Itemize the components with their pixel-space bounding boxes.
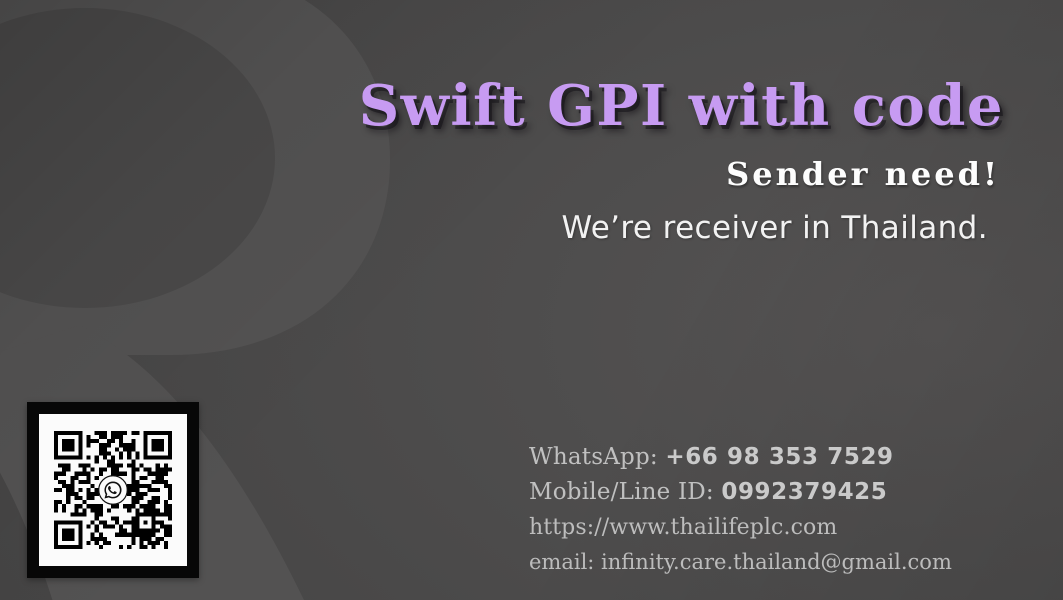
contact-row-whatsapp: WhatsApp: +66 98 353 7529 [529,440,999,475]
subtitle: Sender need! [0,157,1000,192]
line-id-number[interactable]: 0992379425 [721,479,887,505]
contact-block: WhatsApp: +66 98 353 7529 Mobile/Line ID… [529,440,999,580]
qr-code[interactable] [27,402,199,578]
business-card: Swift GPI with code Sender need! We’re r… [0,0,1063,600]
whatsapp-number[interactable]: +66 98 353 7529 [665,444,893,470]
whatsapp-icon [98,475,128,505]
tagline: We’re receiver in Thailand. [0,211,988,247]
website-link[interactable]: https://www.thailifeplc.com [529,510,999,545]
qr-code-surface [39,414,187,566]
contact-row-line-id: Mobile/Line ID: 0992379425 [529,475,999,510]
page-title: Swift GPI with code [0,78,1004,134]
email-address[interactable]: email: infinity.care.thailand@gmail.com [529,545,999,580]
whatsapp-label: WhatsApp: [529,444,665,470]
line-id-label: Mobile/Line ID: [529,479,721,505]
